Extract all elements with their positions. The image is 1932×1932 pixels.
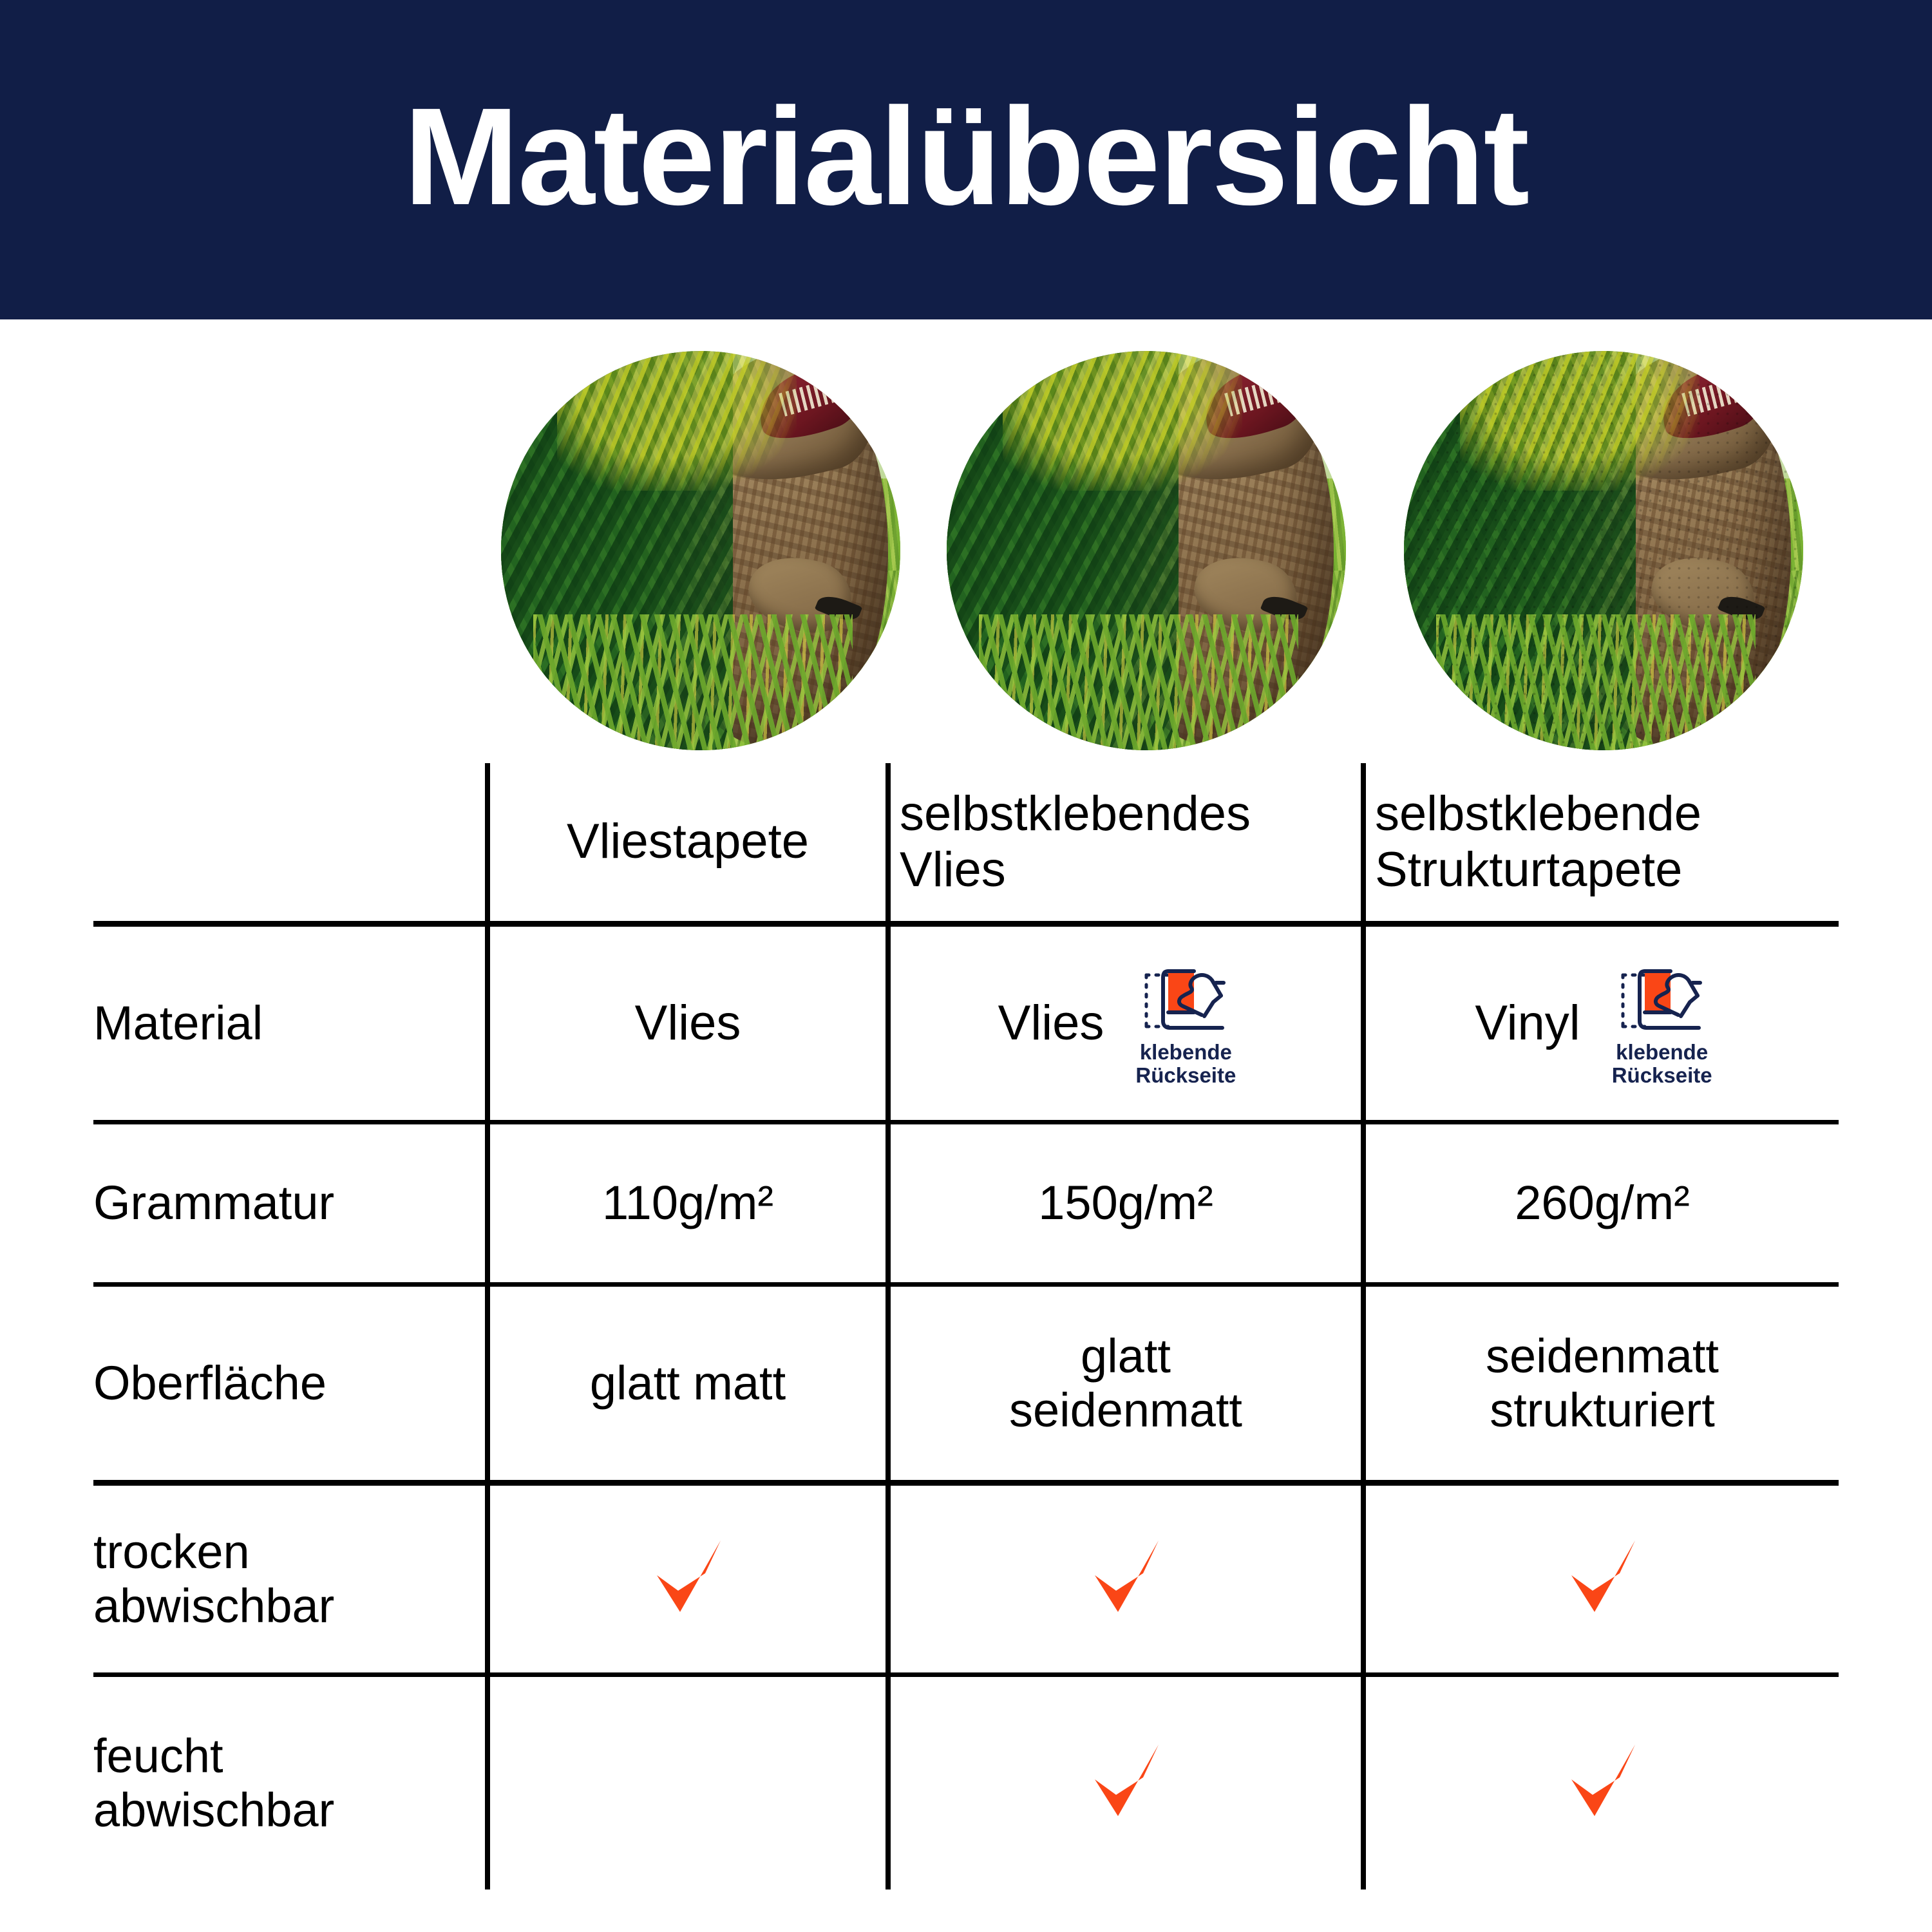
- table-row-oberflaeche: Oberfläche glatt matt glatt seidenmatt s…: [93, 1287, 1839, 1480]
- row-divider: [93, 1120, 1839, 1124]
- sticky-back-badge-label: klebende Rückseite: [1135, 1041, 1236, 1088]
- column-header-label: selbstklebende Strukturtapete: [1375, 786, 1830, 898]
- cell-oberflaeche-vliestapete: glatt matt: [485, 1287, 885, 1480]
- table-header-row: Vliestapete selbstklebendes Vlies selbst…: [93, 763, 1839, 921]
- sticky-back-badge-label: klebende Rückseite: [1612, 1041, 1712, 1088]
- row-label-text: feucht abwischbar: [93, 1729, 476, 1838]
- cell-value: glatt matt: [590, 1356, 786, 1410]
- column-header-vliestapete: Vliestapete: [485, 763, 885, 921]
- cell-trocken-vliestapete: [485, 1486, 885, 1672]
- cell-feucht-vliestapete: [485, 1677, 885, 1889]
- row-label-feucht-abwischbar: feucht abwischbar: [93, 1677, 485, 1889]
- row-label-grammatur: Grammatur: [93, 1124, 485, 1282]
- checkmark-icon: [639, 1531, 736, 1627]
- cell-value: seidenmatt strukturiert: [1486, 1329, 1719, 1438]
- structure-texture-overlay: [1404, 351, 1803, 750]
- checkmark-icon: [1554, 1735, 1651, 1832]
- cell-material-selbstklebendes-vlies: Vlies: [885, 927, 1361, 1120]
- cell-trocken-selbstklebende-strukturtapete: [1361, 1486, 1839, 1672]
- cell-grammatur-selbstklebende-strukturtapete: 260g/m²: [1361, 1124, 1839, 1282]
- peel-sticker-hand-icon: [1137, 960, 1234, 1037]
- column-header-label: selbstklebendes Vlies: [900, 786, 1352, 898]
- cell-value: Vinyl: [1475, 996, 1580, 1050]
- sticky-back-badge: klebende Rückseite: [1595, 960, 1730, 1088]
- dinosaur-jungle-image: [947, 351, 1346, 750]
- table-row-feucht-abwischbar: feucht abwischbar: [93, 1677, 1839, 1889]
- sample-preview-selbstklebendes-vlies: [947, 351, 1346, 750]
- checkmark-icon: [1554, 1531, 1651, 1627]
- row-label-material: Material: [93, 927, 485, 1120]
- table-corner-cell: [93, 763, 485, 921]
- row-divider: [93, 1480, 1839, 1486]
- row-divider: [93, 1282, 1839, 1287]
- row-divider: [93, 1672, 1839, 1677]
- column-header-label: Vliestapete: [567, 814, 809, 870]
- dinosaur-jungle-image: [501, 351, 900, 750]
- column-header-selbstklebendes-vlies: selbstklebendes Vlies: [885, 763, 1361, 921]
- page-header: Materialübersicht: [0, 0, 1932, 319]
- cell-oberflaeche-selbstklebende-strukturtapete: seidenmatt strukturiert: [1361, 1287, 1839, 1480]
- column-header-selbstklebende-strukturtapete: selbstklebende Strukturtapete: [1361, 763, 1839, 921]
- material-overview-page: Materialübersicht: [0, 0, 1932, 1932]
- page-title: Materialübersicht: [404, 87, 1528, 225]
- cell-material-vliestapete: Vlies: [485, 927, 885, 1120]
- cell-value: Vlies: [998, 996, 1104, 1050]
- cell-value: glatt seidenmatt: [1009, 1329, 1242, 1438]
- row-label-oberflaeche: Oberfläche: [93, 1287, 485, 1480]
- checkmark-icon: [1077, 1531, 1174, 1627]
- cell-material-selbstklebende-strukturtapete: Vinyl: [1361, 927, 1839, 1120]
- sample-preview-vliestapete: [501, 351, 900, 750]
- sticky-back-badge: klebende Rückseite: [1118, 960, 1253, 1088]
- table-row-trocken-abwischbar: trocken abwischbar: [93, 1486, 1839, 1672]
- cell-feucht-selbstklebendes-vlies: [885, 1677, 1361, 1889]
- sample-preview-selbstklebende-strukturtapete: [1404, 351, 1803, 750]
- cell-value: Vlies: [635, 996, 741, 1050]
- peel-sticker-hand-icon: [1614, 960, 1710, 1037]
- table-row-material: Material Vlies Vlies: [93, 927, 1839, 1120]
- row-divider: [93, 921, 1839, 927]
- material-comparison-table: Vliestapete selbstklebendes Vlies selbst…: [93, 763, 1839, 1889]
- cell-grammatur-selbstklebendes-vlies: 150g/m²: [885, 1124, 1361, 1282]
- cell-oberflaeche-selbstklebendes-vlies: glatt seidenmatt: [885, 1287, 1361, 1480]
- checkmark-icon: [1077, 1735, 1174, 1832]
- row-label-trocken-abwischbar: trocken abwischbar: [93, 1486, 485, 1672]
- row-label-text: trocken abwischbar: [93, 1525, 476, 1634]
- table-row-grammatur: Grammatur 110g/m² 150g/m² 260g/m²: [93, 1124, 1839, 1282]
- cell-feucht-selbstklebende-strukturtapete: [1361, 1677, 1839, 1889]
- sample-previews: [0, 351, 1932, 763]
- cell-trocken-selbstklebendes-vlies: [885, 1486, 1361, 1672]
- cell-grammatur-vliestapete: 110g/m²: [485, 1124, 885, 1282]
